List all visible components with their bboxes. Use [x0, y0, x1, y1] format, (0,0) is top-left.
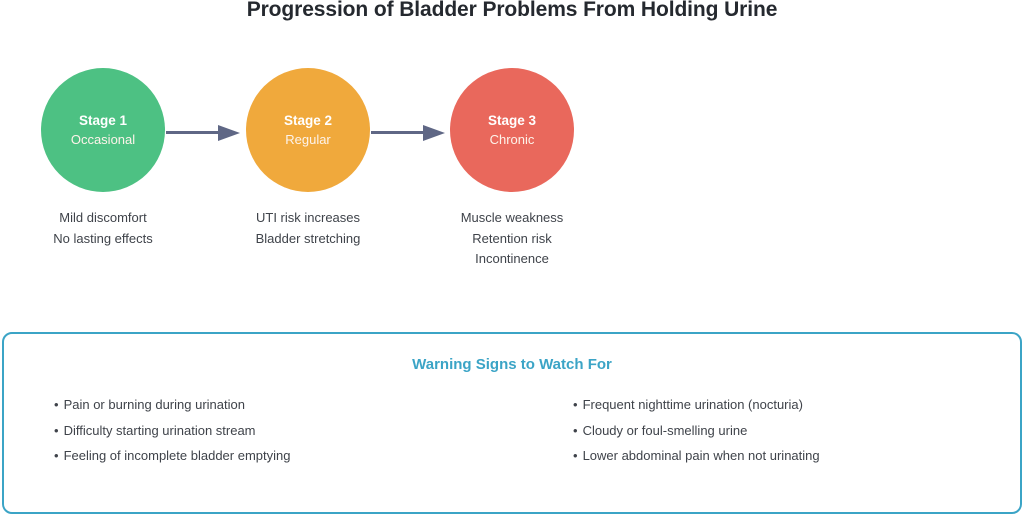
stage-circle-1[interactable]: Stage 1 Occasional [41, 68, 165, 192]
page-title: Progression of Bladder Problems From Hol… [0, 0, 1024, 24]
stage-circle-3[interactable]: Stage 3 Chronic [450, 68, 574, 192]
caption-line: Bladder stretching [205, 229, 411, 250]
caption-line: No lasting effects [0, 229, 206, 250]
bullet-icon: • [54, 448, 59, 463]
list-item: •Difficulty starting urination stream [54, 418, 512, 444]
list-item: •Feeling of incomplete bladder emptying [54, 443, 512, 469]
list-item: •Pain or burning during urination [54, 392, 512, 418]
list-item: •Frequent nighttime urination (nocturia) [573, 392, 1020, 418]
caption-line: Incontinence [409, 249, 615, 270]
list-item-label: Frequent nighttime urination (nocturia) [583, 397, 803, 412]
stage-title-1: Stage 1 [79, 111, 127, 130]
diagram-canvas: Progression of Bladder Problems From Hol… [0, 0, 1024, 520]
bullet-icon: • [573, 448, 578, 463]
bullet-icon: • [573, 397, 578, 412]
list-item-label: Difficulty starting urination stream [64, 423, 256, 438]
bullet-icon: • [573, 423, 578, 438]
list-item: •Lower abdominal pain when not urinating [573, 443, 1020, 469]
list-item-label: Pain or burning during urination [64, 397, 245, 412]
stage-subtitle-2: Regular [285, 130, 331, 150]
warning-signs-heading: Warning Signs to Watch For [4, 354, 1020, 376]
stage-group-3: Stage 3 Chronic Muscle weakness Retentio… [409, 60, 615, 280]
stage-subtitle-3: Chronic [490, 130, 535, 150]
stage-title-3: Stage 3 [488, 111, 536, 130]
warning-signs-panel: Warning Signs to Watch For •Pain or burn… [2, 332, 1022, 514]
bullet-icon: • [54, 423, 59, 438]
caption-line: UTI risk increases [205, 208, 411, 229]
stage-circle-2[interactable]: Stage 2 Regular [246, 68, 370, 192]
caption-line: Muscle weakness [409, 208, 615, 229]
warning-signs-columns: •Pain or burning during urination •Diffi… [4, 392, 1020, 469]
stage-title-2: Stage 2 [284, 111, 332, 130]
list-item: •Cloudy or foul-smelling urine [573, 418, 1020, 444]
warning-list-left: •Pain or burning during urination •Diffi… [4, 392, 512, 469]
list-item-label: Cloudy or foul-smelling urine [583, 423, 748, 438]
list-item-label: Lower abdominal pain when not urinating [583, 448, 820, 463]
caption-line: Mild discomfort [0, 208, 206, 229]
stage-group-1: Stage 1 Occasional Mild discomfort No la… [0, 60, 206, 280]
bullet-icon: • [54, 397, 59, 412]
stage-caption-2: UTI risk increases Bladder stretching [205, 208, 411, 249]
stage-subtitle-1: Occasional [71, 130, 135, 150]
list-item-label: Feeling of incomplete bladder emptying [64, 448, 291, 463]
stage-caption-1: Mild discomfort No lasting effects [0, 208, 206, 249]
stage-group-2: Stage 2 Regular UTI risk increases Bladd… [205, 60, 411, 280]
stage-progression-flow: Stage 1 Occasional Mild discomfort No la… [0, 60, 1024, 280]
stage-caption-3: Muscle weakness Retention risk Incontine… [409, 208, 615, 270]
caption-line: Retention risk [409, 229, 615, 250]
warning-list-right: •Frequent nighttime urination (nocturia)… [512, 392, 1020, 469]
